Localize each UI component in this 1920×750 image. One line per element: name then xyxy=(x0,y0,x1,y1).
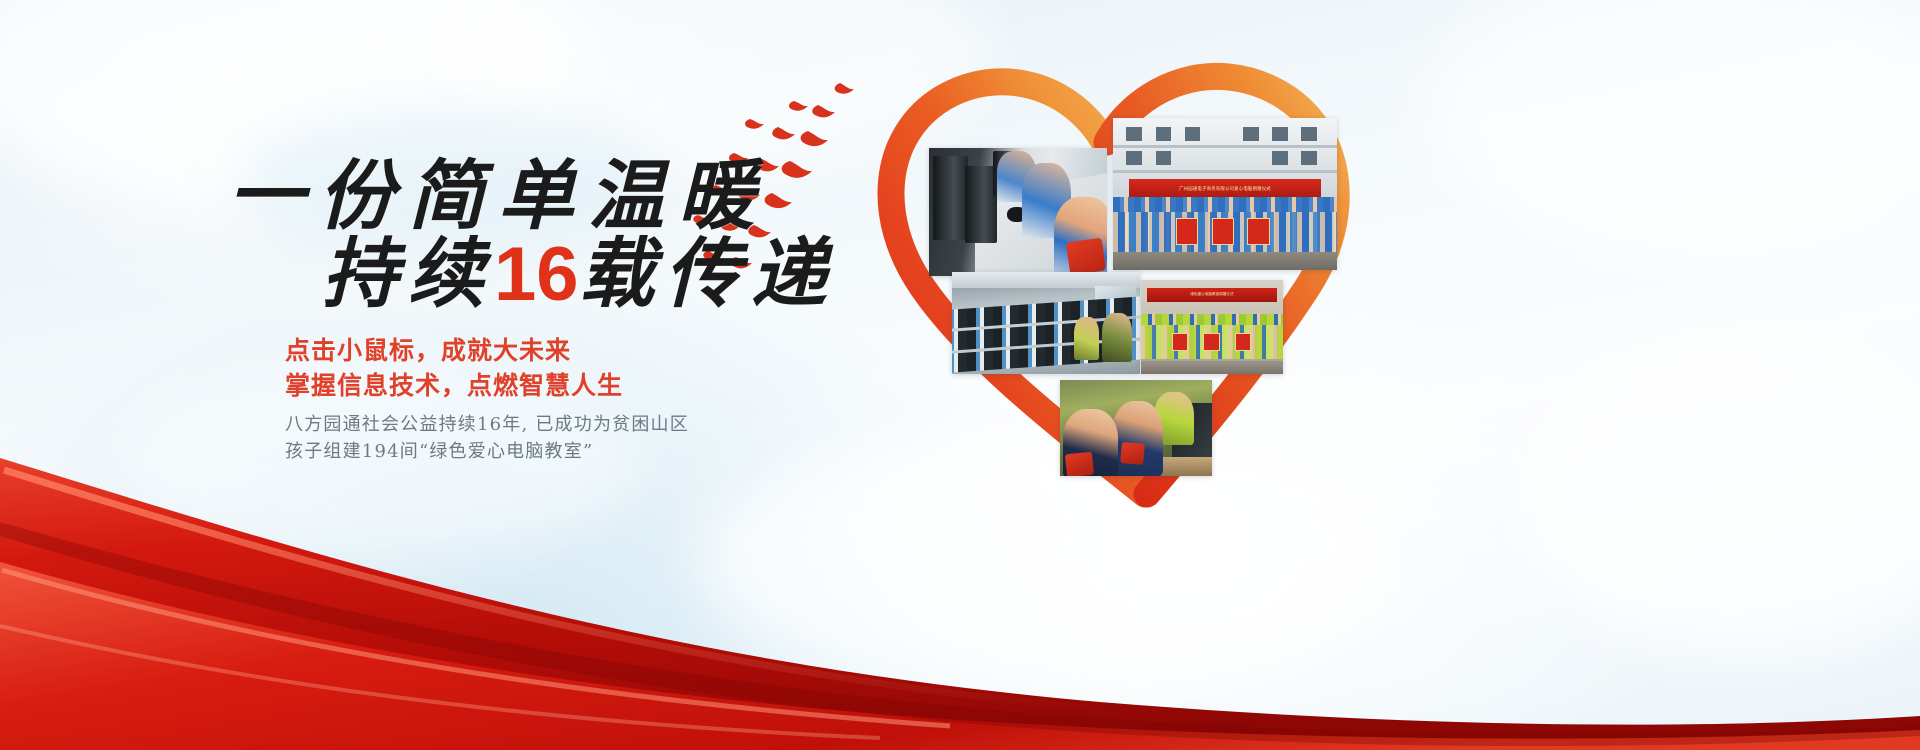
ceremony-banner-label: 广州园通电子商务有限公司爱心电脑捐赠仪式 xyxy=(1179,186,1271,192)
headline-line-2-prefix: 持续 xyxy=(322,229,494,318)
headline-years-number: 16 xyxy=(494,232,579,317)
headline-line-2-suffix: 载传递 xyxy=(579,229,837,318)
award-banner-text: 绿色爱心电脑教室捐赠仪式 xyxy=(1147,288,1278,302)
headline-line-2: 持续16载传递 xyxy=(322,236,837,313)
subtitle-line-1: 点击小鼠标，成就大未来 xyxy=(285,331,571,367)
headline-line-1: 一份简单温暖 xyxy=(228,158,768,234)
photo-group-award: 绿色爱心电脑教室捐赠仪式 xyxy=(1141,280,1283,374)
photo-school-ceremony: 广州园通电子商务有限公司爱心电脑捐赠仪式 xyxy=(1113,118,1337,270)
subtitle-line-2: 掌握信息技术，点燃智慧人生 xyxy=(285,366,623,402)
cloud-blob xyxy=(1420,0,1920,260)
award-banner-label: 绿色爱心电脑教室捐赠仪式 xyxy=(1190,292,1233,297)
photo-lab-kids xyxy=(929,148,1107,276)
photo-classroom-pcs xyxy=(952,272,1140,374)
ceremony-banner-text: 广州园通电子商务有限公司爱心电脑捐赠仪式 xyxy=(1129,179,1322,199)
red-silk-ribbon-icon xyxy=(0,430,1920,750)
charity-banner: 广州园通电子商务有限公司爱心电脑捐赠仪式 绿色爱心电脑教室捐赠仪式 xyxy=(0,0,1920,750)
